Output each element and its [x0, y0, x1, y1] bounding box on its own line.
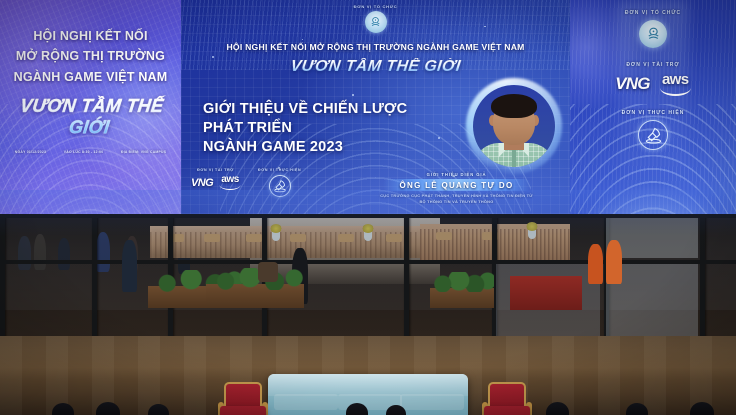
plant-foliage-2 — [206, 268, 304, 290]
portrait-image — [473, 85, 555, 167]
event-date: NGÀY 01/12/2023 — [15, 150, 46, 154]
right-organizer-label: ĐƠN VỊ TỔ CHỨC — [570, 10, 736, 16]
aws-smile-icon — [660, 88, 691, 96]
left-title-line-3: NGÀNH GAME VIỆT NAM — [8, 67, 173, 87]
plant-foliage-3 — [430, 272, 494, 292]
aws-logo: aws — [660, 72, 691, 96]
registration-desk — [510, 276, 582, 310]
center-title-line-1: GIỚI THIỆU VỀ CHIẾN LƯỢC — [203, 100, 407, 119]
organizer-label: ĐƠN VỊ TỔ CHỨC — [181, 4, 570, 9]
speaker-info-block: GIỚI THIỆU DIỄN GIẢ ÔNG LÊ QUANG TỰ DO C… — [349, 172, 564, 205]
center-title-line-3: NGÀNH GAME 2023 — [203, 138, 407, 157]
ministry-emblem-icon — [365, 11, 387, 33]
aws-logo: aws — [220, 175, 240, 190]
center-logo-row: ĐƠN VỊ TÀI TRỢ VNG aws ĐƠN VỊ THỰC HIỆN — [191, 168, 301, 197]
sponsor-column: ĐƠN VỊ TÀI TRỢ VNG aws — [191, 168, 240, 190]
led-panel-center: ĐƠN VỊ TỔ CHỨC HỘI NGHỊ KẾT NỐI MỞ RỘNG … — [181, 0, 570, 214]
center-main-title: GIỚI THIỆU VỀ CHIẾN LƯỢC PHÁT TRIỂN NGÀN… — [203, 100, 407, 157]
conference-photo: HỘI NGHỊ KẾT NỐI MỞ RỘNG THỊ TRƯỜNG NGÀN… — [0, 0, 736, 415]
center-title-line-2: PHÁT TRIỂN — [203, 119, 407, 138]
aws-smile-icon — [220, 185, 241, 190]
aws-wordmark: aws — [221, 174, 239, 185]
ministry-emblem-icon — [639, 20, 667, 48]
vng-logo: VNG — [615, 74, 649, 94]
staff-orange-2 — [606, 240, 622, 284]
right-sponsor-label: ĐƠN VỊ TÀI TRỢ — [570, 62, 736, 68]
speaker-intro-label: GIỚI THIỆU DIỄN GIẢ — [349, 172, 564, 177]
rocket-emblem-icon — [638, 120, 668, 150]
speaker-portrait — [466, 78, 562, 174]
right-sponsor-brands: VNG aws — [570, 72, 736, 96]
center-organizer-block: ĐƠN VỊ TỔ CHỨC — [181, 4, 570, 33]
side-chair — [258, 262, 278, 282]
speaker-name: ÔNG LÊ QUANG TỰ DO — [383, 181, 531, 190]
center-slogan: VƯƠN TẦM THẾ GIỚI — [181, 58, 570, 76]
audience-row — [0, 389, 736, 415]
rocket-emblem-icon — [269, 175, 291, 197]
aws-wordmark: aws — [662, 71, 689, 88]
speaker-name-bar: ÔNG LÊ QUANG TỰ DO — [383, 179, 531, 191]
executor-label: ĐƠN VỊ THỰC HIỆN — [258, 168, 301, 172]
event-location: ĐỊA ĐIỂM: VNG CAMPUS — [121, 150, 166, 154]
right-executor-section: ĐƠN VỊ THỰC HIỆN — [570, 110, 736, 150]
guest-standing — [122, 240, 137, 292]
left-title-line-2: MỞ RỘNG THỊ TRƯỜNG — [8, 46, 173, 66]
sponsor-label: ĐƠN VỊ TÀI TRỢ — [191, 168, 240, 172]
event-time: VÀO LÚC 8:30 - 12:00 — [64, 150, 104, 154]
glass-partition-wall — [0, 214, 736, 344]
led-video-wall: HỘI NGHỊ KẾT NỐI MỞ RỘNG THỊ TRƯỜNG NGÀN… — [0, 0, 736, 214]
led-panel-left: HỘI NGHỊ KẾT NỐI MỞ RỘNG THỊ TRƯỜNG NGÀN… — [0, 0, 181, 214]
left-panel-content: HỘI NGHỊ KẾT NỐI MỞ RỘNG THỊ TRƯỜNG NGÀN… — [0, 0, 181, 138]
left-panel-meta: NGÀY 01/12/2023 VÀO LÚC 8:30 - 12:00 ĐỊA… — [0, 150, 181, 154]
left-title-line-1: HỘI NGHỊ KẾT NỐI — [8, 26, 173, 46]
left-panel-slogan: VƯƠN TẦM THẾ GIỚI — [5, 96, 175, 138]
speaker-role-line-2: BỘ THÔNG TIN VÀ TRUYỀN THÔNG — [349, 199, 564, 205]
venue-interior — [0, 214, 736, 415]
right-executor-label: ĐƠN VỊ THỰC HIỆN — [570, 110, 736, 116]
right-sponsor-section: ĐƠN VỊ TÀI TRỢ VNG aws — [570, 62, 736, 96]
right-panel-content: ĐƠN VỊ TỔ CHỨC ĐƠN VỊ TÀI TRỢ VNG — [570, 0, 736, 150]
center-header-text: HỘI NGHỊ KẾT NỐI MỞ RỘNG THỊ TRƯỜNG NGÀN… — [181, 42, 570, 52]
sponsor-brands: VNG aws — [191, 175, 240, 190]
led-panel-right: ĐƠN VỊ TỔ CHỨC ĐƠN VỊ TÀI TRỢ VNG — [570, 0, 736, 214]
staff-orange — [588, 244, 603, 284]
executor-column: ĐƠN VỊ THỰC HIỆN — [258, 168, 301, 197]
vng-logo: VNG — [191, 177, 213, 189]
